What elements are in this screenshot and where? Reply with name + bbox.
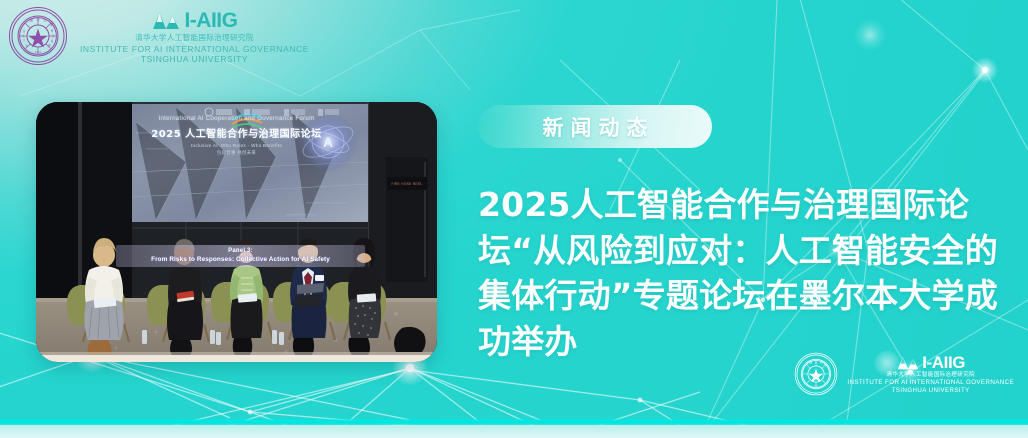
news-category-badge[interactable]: 新闻动态 xyxy=(478,105,712,148)
svg-text:德: 德 xyxy=(52,34,55,38)
svg-text:自: 自 xyxy=(23,29,26,33)
svg-text:清: 清 xyxy=(29,18,33,23)
svg-text:清: 清 xyxy=(810,360,813,364)
svg-text:A: A xyxy=(323,134,333,150)
panel-photo-image: A xyxy=(36,102,437,362)
svg-text:华: 华 xyxy=(815,360,818,364)
svg-text:1911: 1911 xyxy=(35,50,42,54)
iaiig-wordmark: I-AIIG xyxy=(151,10,237,31)
svg-text:学: 学 xyxy=(50,22,54,27)
svg-text:载: 载 xyxy=(51,39,54,43)
logo-text-block: I-AIIG 清华大学人工智能国际治理研究院 INSTITUTE FOR AI … xyxy=(80,8,309,64)
tsinghua-seal-icon: 清 华 大 学 自强不 息厚德 载物 1911 xyxy=(8,6,68,66)
bottom-pale-strip xyxy=(0,425,1028,438)
logo-name-en-line2-footer: TSINGHUA UNIVERSITY xyxy=(892,388,970,394)
svg-text:大: 大 xyxy=(820,360,823,364)
logo-text-block-footer: I-AIIG 清华大学人工智能国际治理研究院 INSTITUTE FOR AI … xyxy=(847,354,1014,395)
svg-text:学: 学 xyxy=(825,364,828,368)
svg-text:大: 大 xyxy=(43,18,47,23)
headline-title: 2025人工智能合作与治理国际论坛“从风险到应对：人工智能安全的集体行动”专题论… xyxy=(478,182,998,364)
svg-text:息: 息 xyxy=(25,44,28,48)
logo-lockup-header: 清 华 大 学 自强不 息厚德 载物 1911 xyxy=(8,6,309,66)
svg-text:华: 华 xyxy=(36,16,40,21)
logo-name-cn-footer: 清华大学人工智能国际治理研究院 xyxy=(886,373,974,379)
svg-text:物: 物 xyxy=(48,44,51,48)
tsinghua-seal-icon-footer: 清华 大学 1911 xyxy=(794,352,838,396)
panel-photo-card[interactable]: A xyxy=(36,102,437,362)
logo-name-en-line1-footer: INSTITUTE FOR AI INTERNATIONAL GOVERNANC… xyxy=(847,380,1014,386)
iaiig-mountain-mark-icon xyxy=(151,11,181,30)
iaiig-letters: I-AIIG xyxy=(184,10,237,31)
news-category-label: 新闻动态 xyxy=(536,112,655,142)
logo-name-en-line2: TSINGHUA UNIVERSITY xyxy=(141,55,248,64)
logo-lockup-footer: 清华 大学 1911 I-AIIG 清华大学人工智能国际治理研究院 xyxy=(794,352,1014,396)
news-banner: 清 华 大 学 自强不 息厚德 载物 1911 xyxy=(0,0,1028,438)
svg-text:厚: 厚 xyxy=(51,29,54,33)
svg-text:1911: 1911 xyxy=(814,385,819,387)
fire-hose-reel-sign: FIRE HOSE REEL xyxy=(387,177,427,190)
iaiig-wordmark-footer: I-AIIG xyxy=(896,354,965,371)
iaiig-mountain-mark-icon-footer xyxy=(896,355,920,370)
svg-text:不: 不 xyxy=(23,40,26,43)
iaiig-letters-footer: I-AIIG xyxy=(922,354,965,371)
logo-name-cn: 清华大学人工智能国际治理研究院 xyxy=(135,34,254,42)
logo-name-en-line1: INSTITUTE FOR AI INTERNATIONAL GOVERNANC… xyxy=(80,45,309,54)
svg-text:强: 强 xyxy=(22,34,25,38)
